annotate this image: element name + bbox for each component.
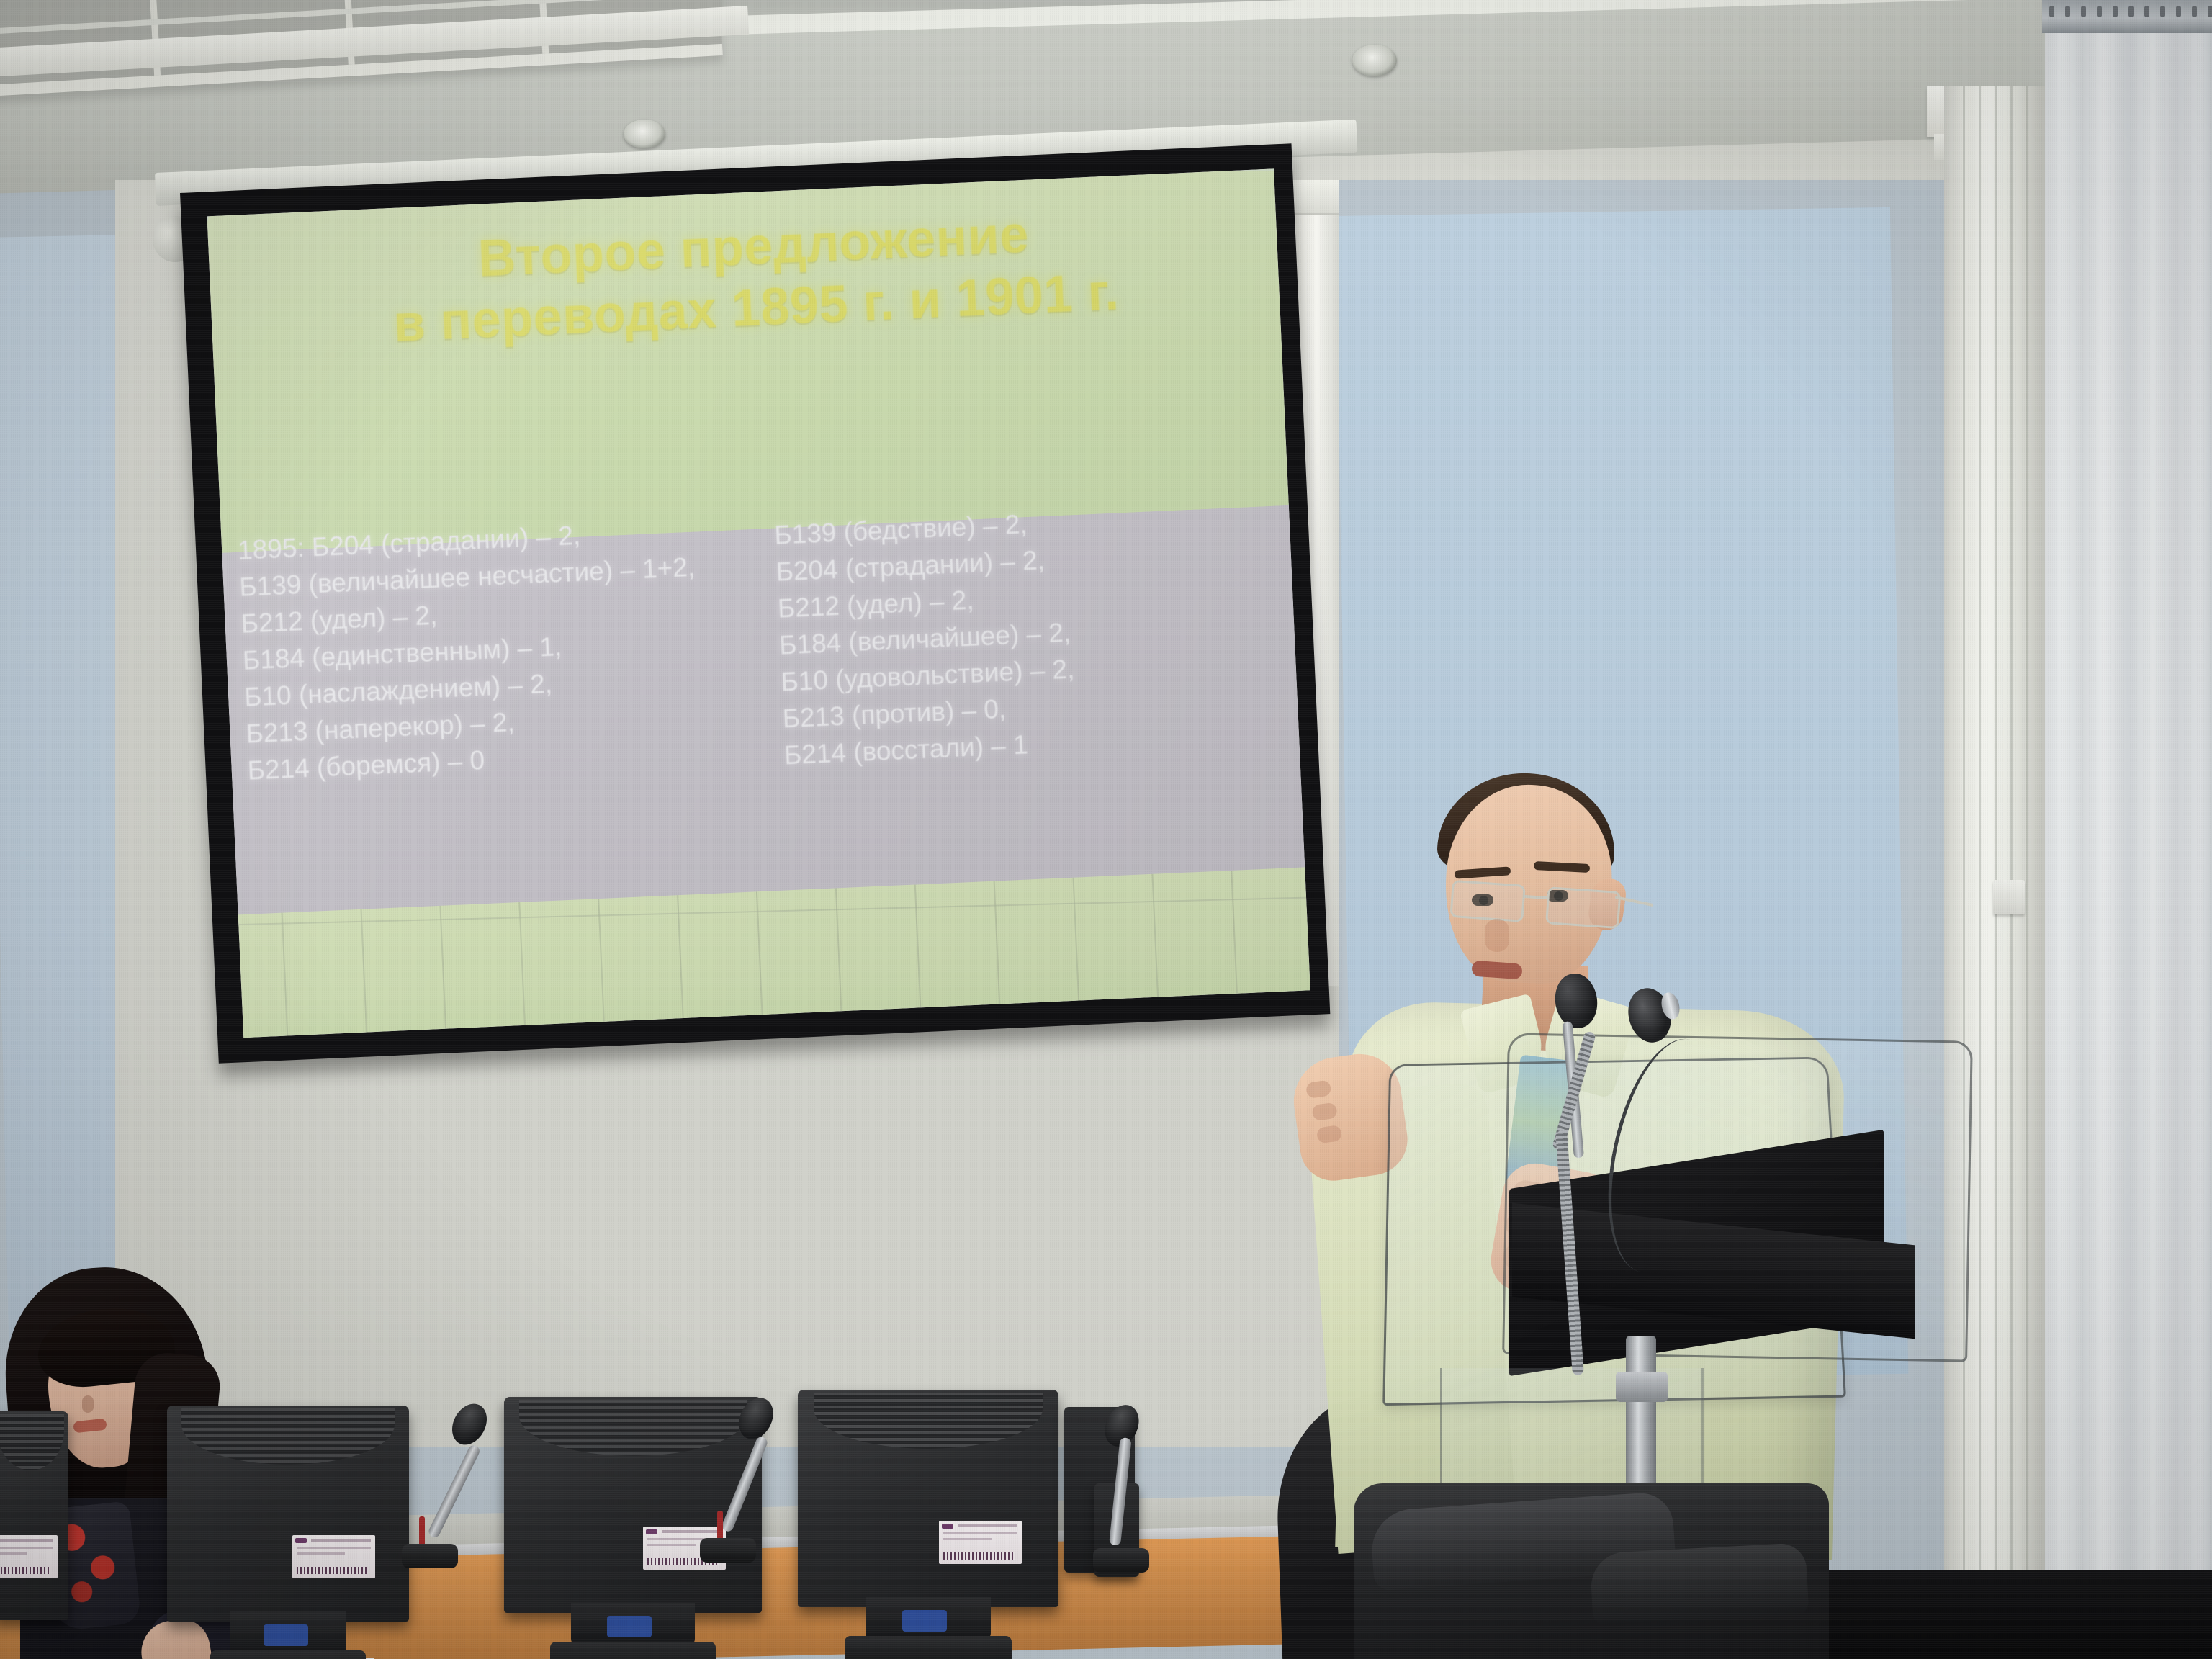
- monitor-base: [550, 1642, 715, 1659]
- projection-screen-surface: Второе предложение в переводах 1895 г. и…: [207, 168, 1310, 1038]
- curtain-hooks: [2049, 6, 2212, 19]
- monitor-vent: [0, 1414, 64, 1470]
- monitor-vent: [519, 1400, 746, 1456]
- wall-sensor-box: [1993, 880, 2025, 914]
- microphone-base: [1093, 1548, 1149, 1573]
- ceiling-downlight-icon: [1352, 45, 1397, 76]
- monitor-label-sticker: [0, 1535, 58, 1578]
- photo-scene: Второе предложение в переводах 1895 г. и…: [0, 0, 2212, 1659]
- fluted-column-right: [1944, 86, 2049, 1659]
- window-curtain[interactable]: [2045, 0, 2212, 1659]
- slide-column-1895: 1895: Б204 (страдании) – 2, Б139 (велича…: [221, 509, 770, 940]
- slide-column-1901: Б139 (бедствие) – 2, Б204 (страдании) – …: [752, 485, 1306, 916]
- monitor-vga-connector: [607, 1616, 652, 1637]
- foreground-chair-armrest-secondary: [1590, 1542, 1809, 1626]
- microphone-base: [402, 1544, 458, 1568]
- monitor-3[interactable]: [504, 1397, 762, 1613]
- participant-nose: [82, 1395, 94, 1413]
- presenter-mouth: [1471, 961, 1522, 980]
- monitor-base: [845, 1636, 1012, 1659]
- monitor-vent: [181, 1408, 395, 1465]
- monitor-vga-connector: [902, 1610, 947, 1632]
- monitor-4[interactable]: [798, 1390, 1058, 1607]
- presenter-nose: [1485, 919, 1509, 952]
- monitor-vent: [814, 1393, 1043, 1449]
- monitor-label-sticker: [292, 1535, 375, 1578]
- presentation-slide: Второе предложение в переводах 1895 г. и…: [207, 168, 1310, 1038]
- monitor-label-sticker: [939, 1521, 1022, 1564]
- projection-screen: Второе предложение в переводах 1895 г. и…: [180, 143, 1330, 1064]
- lectern-post-collar: [1616, 1372, 1668, 1402]
- monitor-base: [210, 1650, 365, 1659]
- monitor-1[interactable]: [0, 1411, 68, 1620]
- monitor-2[interactable]: [167, 1406, 409, 1622]
- monitor-vga-connector: [264, 1624, 308, 1646]
- pilaster-capital: [1289, 180, 1339, 215]
- ceiling-downlight-icon: [624, 120, 665, 148]
- slide-columns: 1895: Б204 (страдании) – 2, Б139 (велича…: [221, 485, 1306, 940]
- microphone-base: [700, 1538, 756, 1563]
